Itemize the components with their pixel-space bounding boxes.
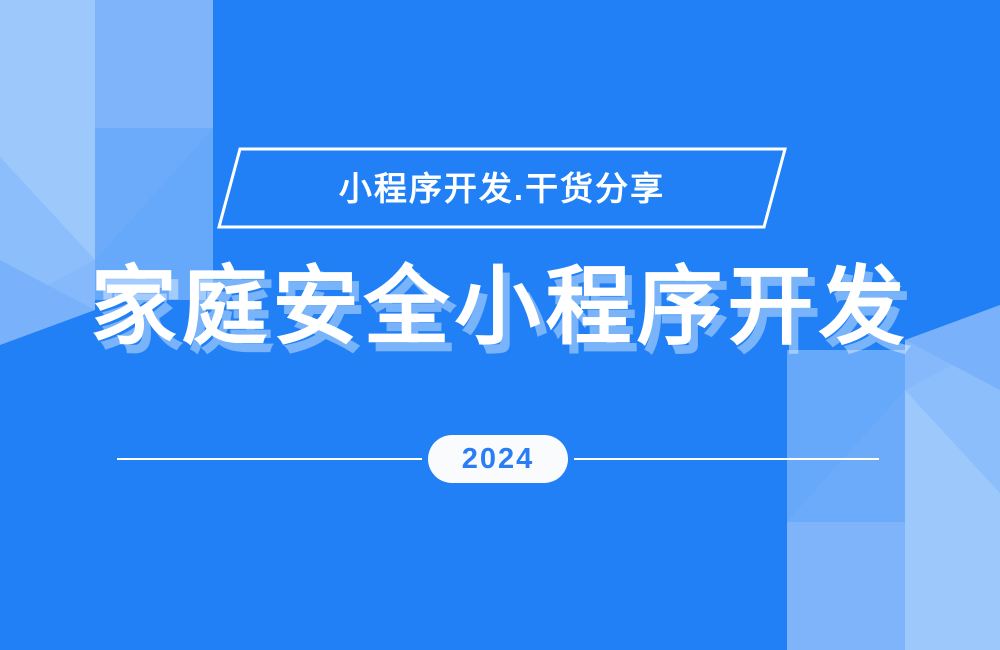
promo-banner: 小程序开发.干货分享 家庭安全小程序开发 2024 (0, 0, 1000, 650)
deco-right-band-mid (787, 350, 905, 650)
year-badge: 2024 (428, 435, 568, 483)
deco-left-wedge-light-top (0, 0, 95, 260)
deco-left-wedge-light-mid (95, 0, 213, 260)
page-title: 家庭安全小程序开发 (0, 262, 1000, 352)
deco-right-wedge-light-bottom (905, 390, 1000, 650)
divider-rule-right (574, 458, 879, 460)
deco-right-wedge-light-up (905, 340, 1000, 493)
deco-right-wedge-light-mid (787, 390, 905, 650)
deco-right-band-pale (905, 340, 1000, 650)
divider-rule-left (117, 458, 422, 460)
deco-left-arrow-wedge (95, 128, 213, 260)
year-divider: 2024 (117, 435, 879, 483)
subtitle-text: 小程序开发.干货分享 (216, 146, 788, 230)
subtitle-banner: 小程序开发.干货分享 (216, 146, 788, 230)
deco-left-band-mid (95, 0, 213, 300)
